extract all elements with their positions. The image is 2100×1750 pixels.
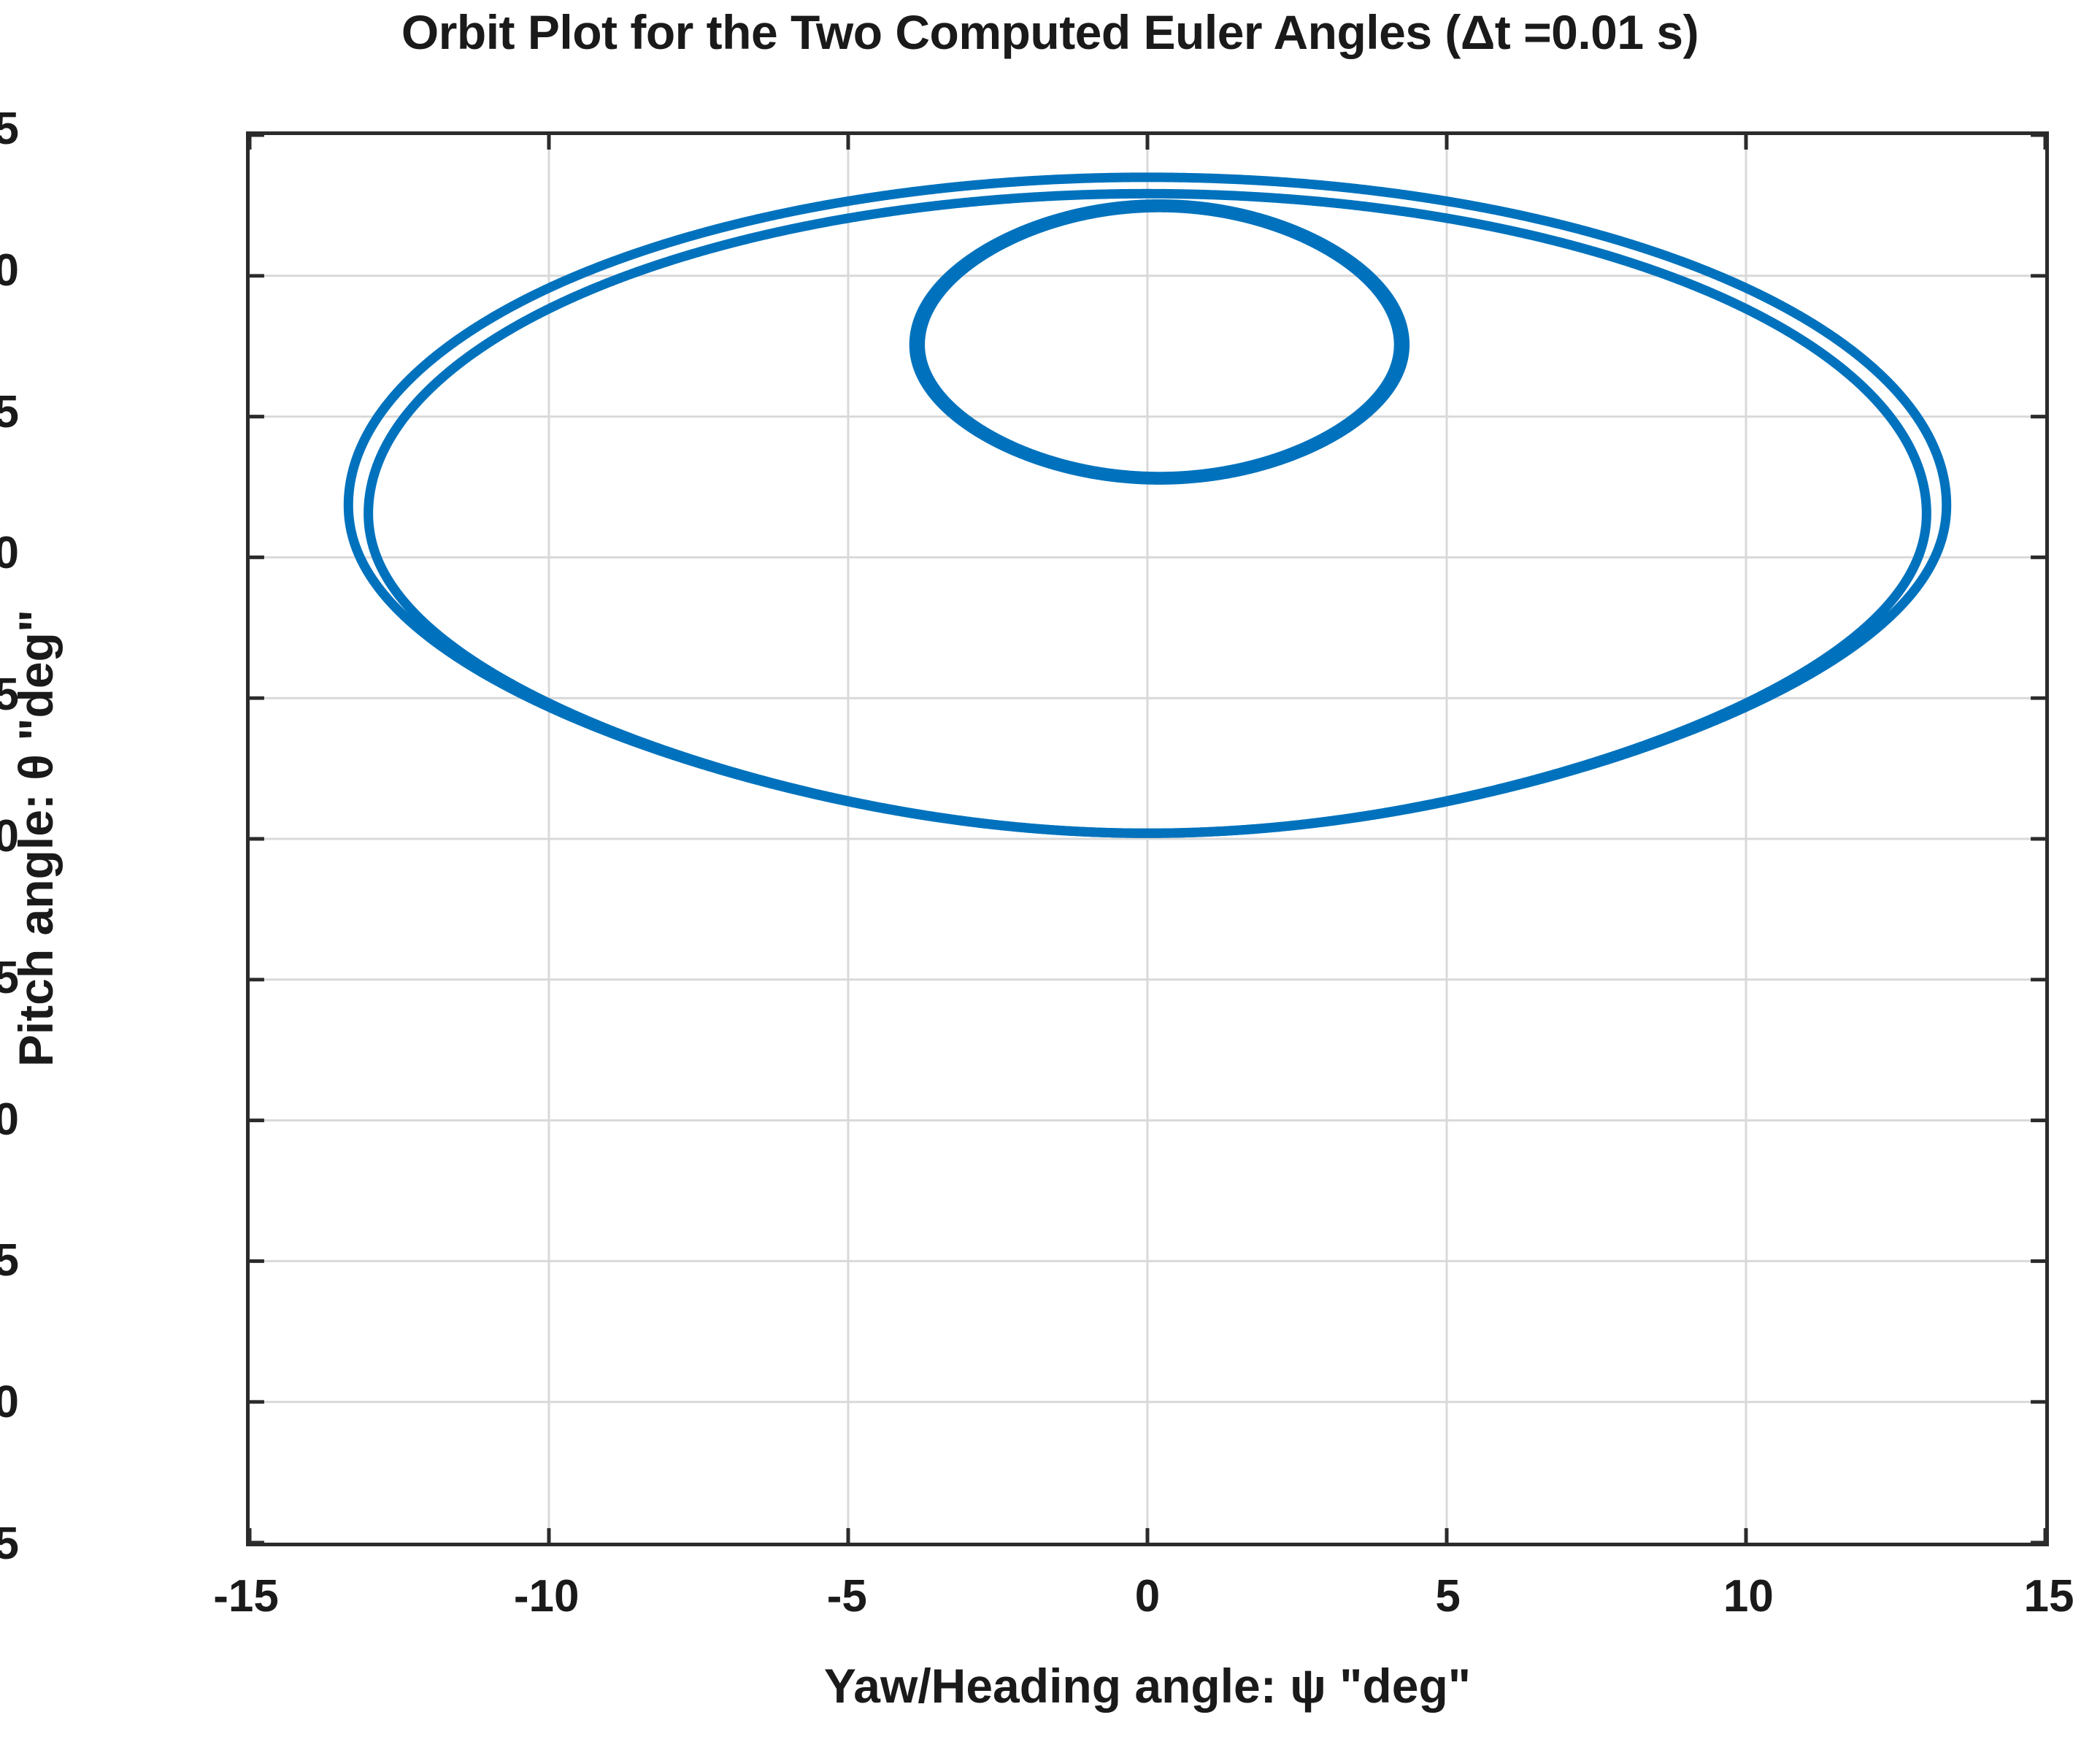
x-tick-label: -15 <box>136 1574 355 1619</box>
plot-canvas <box>250 135 2045 1543</box>
x-axis-title: Yaw/Heading angle: ψ "deg" <box>246 1658 2049 1713</box>
chart-figure: Orbit Plot for the Two Computed Euler An… <box>0 0 2100 1750</box>
x-tick-label: 15 <box>1939 1574 2100 1619</box>
y-axis-title: Pitch angle: θ "deg" <box>8 131 64 1546</box>
x-tick-label: 10 <box>1639 1574 1858 1619</box>
x-tick-label: -10 <box>437 1574 656 1619</box>
plot-area <box>246 131 2049 1546</box>
x-tick-label: -5 <box>737 1574 956 1619</box>
x-tick-label: 0 <box>1038 1574 1257 1619</box>
chart-title: Orbit Plot for the Two Computed Euler An… <box>0 4 2100 60</box>
orbit-inner-lobe <box>920 207 1399 476</box>
grid-lines <box>250 135 2045 1543</box>
x-tick-label: 5 <box>1339 1574 1558 1619</box>
